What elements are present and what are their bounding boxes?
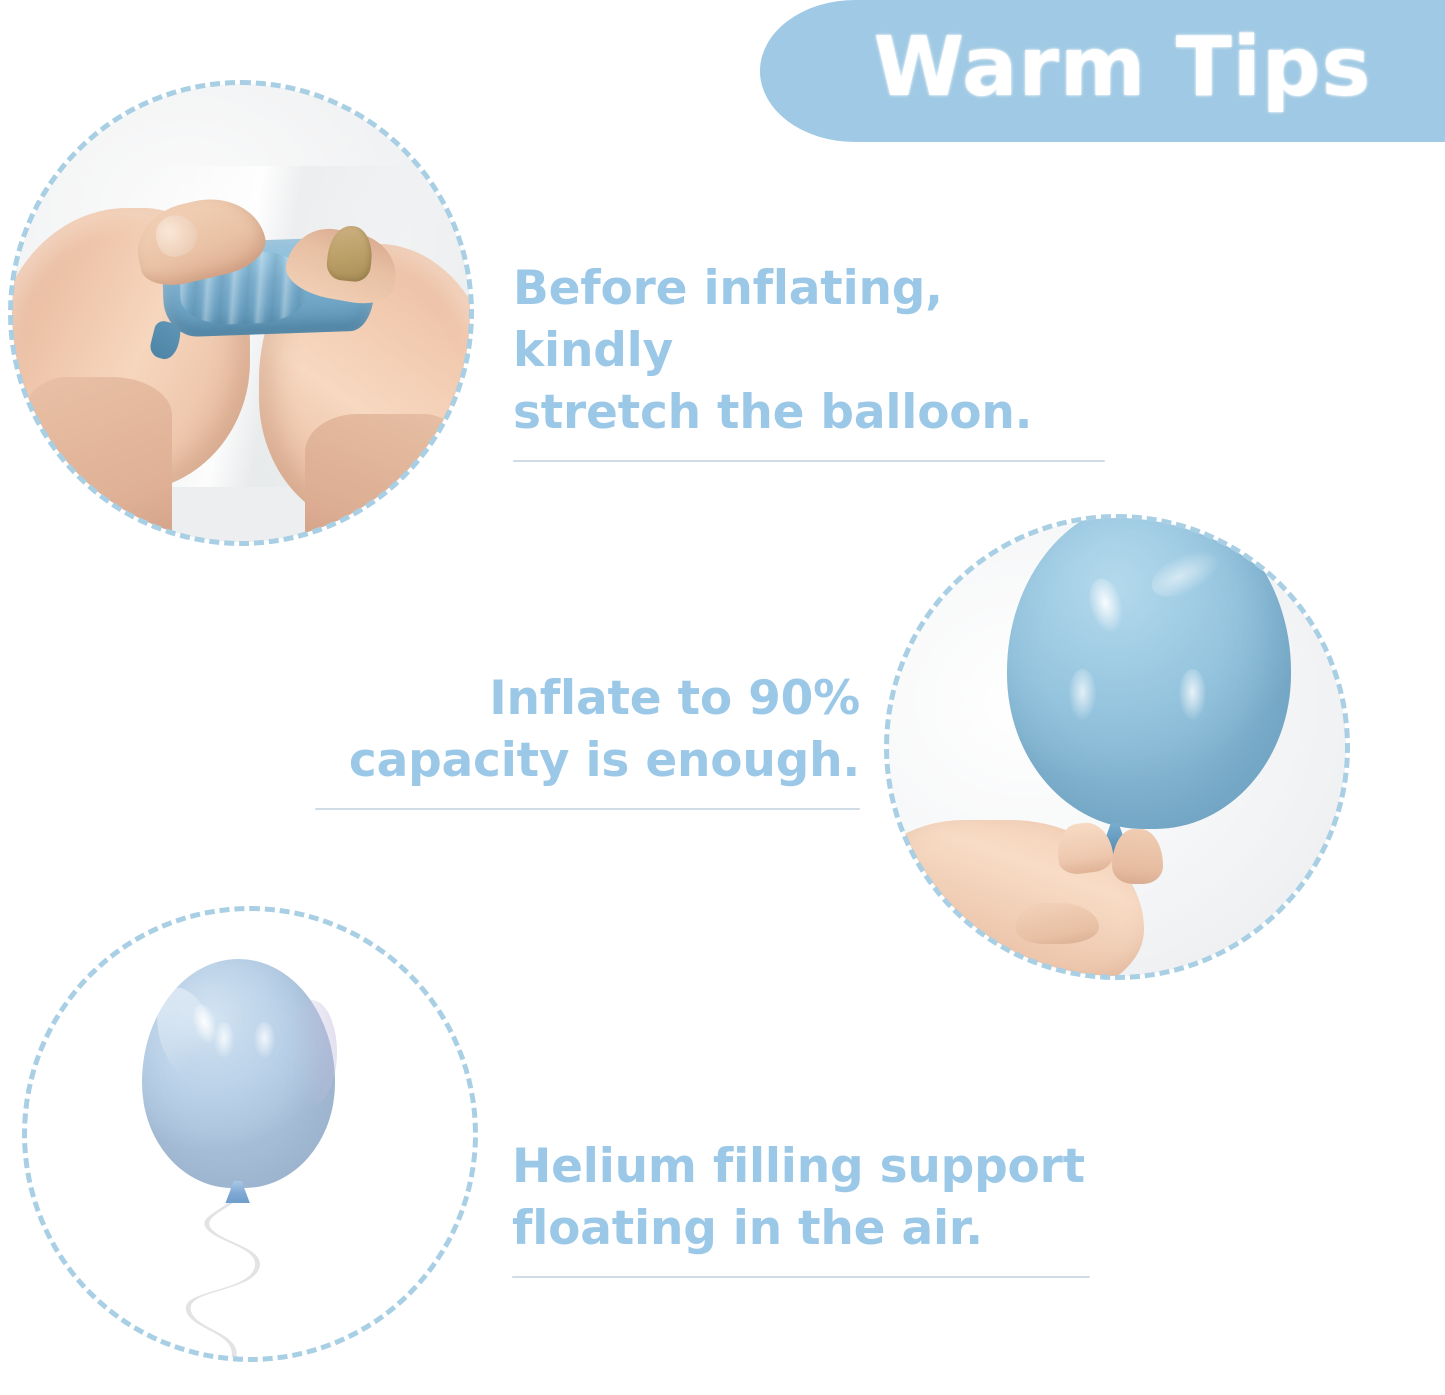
tip-text-capacity: Inflate to 90% capacity is enough. [300, 668, 860, 792]
tip-underline [315, 808, 860, 810]
curled-ribbon-string [116, 1188, 277, 1358]
hand-holding-inflated-balloon-photo [884, 514, 1350, 980]
thumb [1112, 829, 1162, 884]
tip-block-helium: Helium filling support floating in the a… [512, 1136, 1102, 1278]
page-title: Warm Tips [874, 27, 1372, 115]
right-wrist [305, 414, 461, 542]
warm-tips-banner: Warm Tips [760, 0, 1445, 142]
tip-text-stretch: Before inflating, kindly stretch the bal… [513, 258, 1113, 444]
balloon-highlight-left [1069, 669, 1096, 719]
hands-stretching-uninflated-balloon-photo [8, 80, 474, 546]
tip-block-capacity: Inflate to 90% capacity is enough. [300, 668, 860, 810]
tip-text-helium: Helium filling support floating in the a… [512, 1136, 1102, 1260]
balloon-highlight-right [1179, 669, 1206, 719]
floating-balloon-with-ribbon-photo [22, 906, 478, 1362]
inflated-balloon [1007, 518, 1291, 829]
left-wrist [21, 377, 172, 542]
tip-block-stretch: Before inflating, kindly stretch the bal… [513, 258, 1113, 462]
tip-underline [512, 1276, 1090, 1278]
photo-clip-stretch [12, 84, 470, 542]
balloon-highlight-right [254, 1022, 274, 1058]
photo-clip-inflate [888, 518, 1346, 976]
tip-underline [513, 460, 1105, 462]
warm-tips-infographic: Warm Tips [0, 0, 1445, 1395]
lower-finger [1016, 903, 1098, 944]
photo-clip-helium [26, 910, 474, 1358]
